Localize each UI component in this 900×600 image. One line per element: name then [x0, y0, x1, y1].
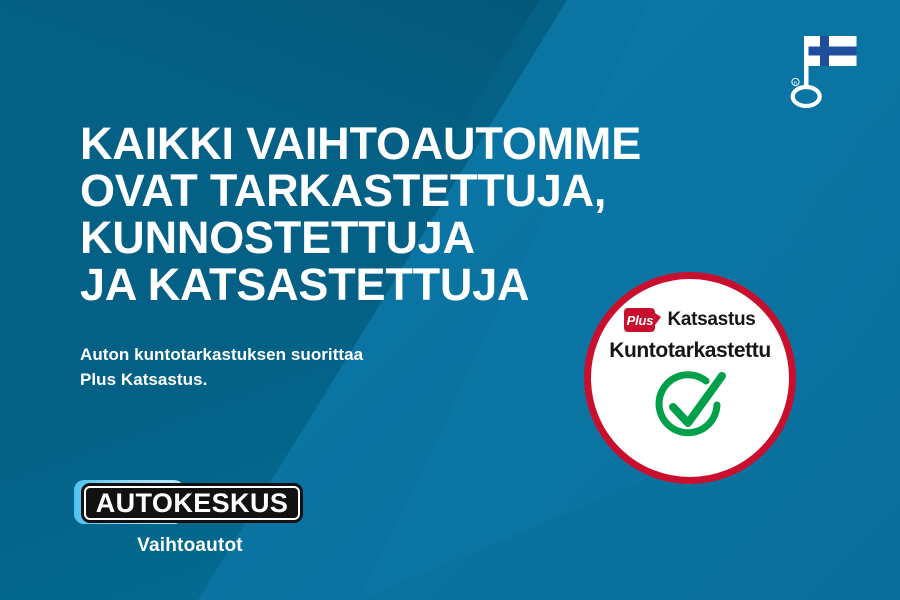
green-checkmark-circle-icon [649, 369, 731, 447]
page-title: KAIKKI VAIHTOAUTOMME OVAT TARKASTETTUJA,… [80, 120, 700, 308]
plus-logo-icon: Plus [624, 308, 661, 332]
logo-plate: AUTOKESKUS [81, 483, 303, 523]
badge-title: Kuntotarkastettu [609, 339, 771, 363]
badge-brand-row: Plus Katsastus [624, 308, 755, 332]
status-badge: Plus Katsastus Kuntotarkastettu [584, 272, 796, 484]
headline-line-4: JA KATSASTETTUJA [80, 261, 700, 308]
headline-line-2: OVAT TARKASTETTUJA, [80, 167, 700, 214]
subheading-line-2: Plus Katsastus. [80, 367, 500, 392]
logo-plate-inner: AUTOKESKUS [84, 486, 300, 520]
plus-logo-text: Plus [624, 308, 655, 332]
headline-line-1: KAIKKI VAIHTOAUTOMME [80, 120, 700, 167]
subheading-line-1: Auton kuntotarkastuksen suorittaa [80, 342, 500, 367]
brand-tagline: Vaihtoautot [74, 535, 306, 557]
autokeskus-logo[interactable]: AUTOKESKUS [74, 478, 306, 526]
headline-line-3: KUNNOSTETTUJA [80, 214, 700, 261]
promo-banner: R KAIKKI VAIHTOAUTOMME OVAT TARKASTETTUJ… [0, 0, 900, 600]
finnish-key-flag-icon: R [788, 24, 860, 110]
badge-brand-name: Katsastus [667, 309, 755, 331]
brand-lockup[interactable]: AUTOKESKUS Vaihtoautot [74, 478, 314, 557]
logo-text: AUTOKESKUS [96, 490, 289, 517]
subheading: Auton kuntotarkastuksen suorittaa Plus K… [80, 342, 500, 392]
